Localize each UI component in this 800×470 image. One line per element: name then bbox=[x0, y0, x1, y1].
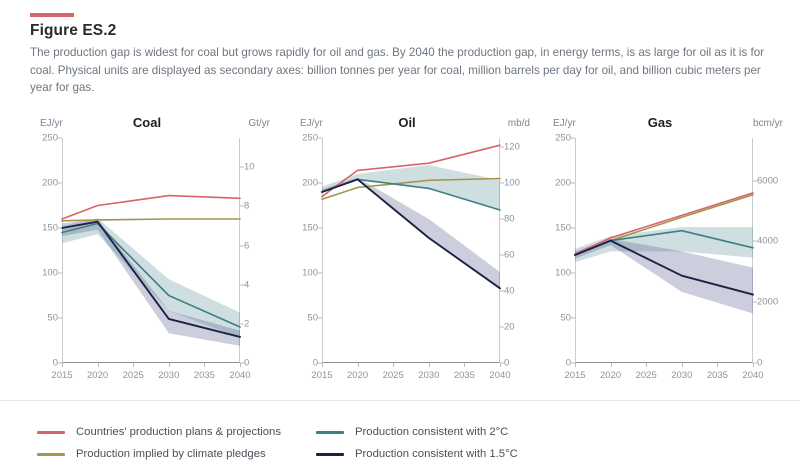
legend-label-pledges: Production implied by climate pledges bbox=[76, 448, 266, 460]
ytick-left-gas-200: 200 bbox=[541, 178, 571, 189]
chart-panel-coal: EJ/yr Coal Gt/yr 05010015020025002468102… bbox=[22, 118, 272, 398]
legend-swatch-plans bbox=[37, 431, 65, 434]
ytick-right-gas-2000: 2000 bbox=[757, 297, 795, 308]
xtick-mark bbox=[393, 363, 394, 367]
xtick-gas-2035: 2035 bbox=[707, 370, 728, 381]
xtick-gas-2025: 2025 bbox=[636, 370, 657, 381]
xtick-mark bbox=[133, 363, 134, 367]
series-svg-gas bbox=[575, 138, 753, 363]
chart-title-oil: Oil bbox=[282, 115, 532, 130]
chart-panel-oil: EJ/yr Oil mb/d 0501001502002500204060801… bbox=[282, 118, 532, 398]
ytick-mark-left bbox=[58, 228, 62, 229]
chart-title-coal: Coal bbox=[22, 115, 272, 130]
legend-divider bbox=[0, 400, 800, 401]
plot-svg-gas bbox=[575, 138, 753, 363]
accent-bar bbox=[30, 13, 74, 17]
ytick-left-coal-250: 250 bbox=[28, 133, 58, 144]
legend-label-15c: Production consistent with 1.5°C bbox=[355, 448, 518, 460]
ytick-left-oil-0: 0 bbox=[288, 358, 318, 369]
xtick-oil-2035: 2035 bbox=[454, 370, 475, 381]
series-svg-coal bbox=[62, 138, 240, 363]
xtick-coal-2040: 2040 bbox=[229, 370, 250, 381]
xtick-gas-2040: 2040 bbox=[742, 370, 763, 381]
ytick-mark-left bbox=[318, 273, 322, 274]
ytick-left-oil-50: 50 bbox=[288, 313, 318, 324]
xtick-mark bbox=[753, 363, 754, 367]
ytick-left-gas-50: 50 bbox=[541, 313, 571, 324]
ytick-right-coal-2: 2 bbox=[244, 318, 282, 329]
figure-caption: The production gap is widest for coal bu… bbox=[30, 44, 772, 97]
xtick-oil-2030: 2030 bbox=[418, 370, 439, 381]
xtick-coal-2035: 2035 bbox=[194, 370, 215, 381]
plot-svg-oil bbox=[322, 138, 500, 363]
xtick-mark bbox=[500, 363, 501, 367]
ytick-right-gas-6000: 6000 bbox=[757, 175, 795, 186]
plot-area-coal: 0501001502002500246810201520202025203020… bbox=[62, 138, 240, 363]
ytick-mark-right bbox=[240, 245, 244, 246]
chart-panel-gas: EJ/yr Gas bcm/yr 05010015020025002000400… bbox=[535, 118, 785, 398]
xtick-coal-2030: 2030 bbox=[158, 370, 179, 381]
xtick-mark bbox=[204, 363, 205, 367]
ytick-mark-right bbox=[240, 323, 244, 324]
xtick-mark bbox=[682, 363, 683, 367]
series-svg-oil bbox=[322, 138, 500, 363]
ytick-right-coal-8: 8 bbox=[244, 201, 282, 212]
ytick-mark-left bbox=[318, 318, 322, 319]
ytick-mark-left bbox=[58, 138, 62, 139]
ytick-left-oil-150: 150 bbox=[288, 223, 318, 234]
band-2c bbox=[322, 165, 500, 210]
xtick-mark bbox=[322, 363, 323, 367]
ytick-mark-left bbox=[58, 183, 62, 184]
ytick-left-coal-100: 100 bbox=[28, 268, 58, 279]
ytick-mark-left bbox=[58, 273, 62, 274]
xtick-mark bbox=[98, 363, 99, 367]
xtick-coal-2025: 2025 bbox=[123, 370, 144, 381]
ytick-mark-left bbox=[571, 318, 575, 319]
axis-unit-right-gas: bcm/yr bbox=[753, 118, 783, 129]
ytick-left-oil-100: 100 bbox=[288, 268, 318, 279]
ytick-left-gas-100: 100 bbox=[541, 268, 571, 279]
ytick-left-coal-200: 200 bbox=[28, 178, 58, 189]
legend-item-plans: Countries' production plans & projection… bbox=[37, 426, 281, 438]
xtick-coal-2020: 2020 bbox=[87, 370, 108, 381]
xtick-oil-2025: 2025 bbox=[383, 370, 404, 381]
ytick-left-coal-150: 150 bbox=[28, 223, 58, 234]
ytick-mark-right bbox=[753, 241, 757, 242]
legend-item-2c: Production consistent with 2°C bbox=[316, 426, 508, 438]
ytick-mark-left bbox=[571, 228, 575, 229]
legend-swatch-15c bbox=[316, 453, 344, 456]
ytick-mark-right bbox=[500, 183, 504, 184]
ytick-left-oil-250: 250 bbox=[288, 133, 318, 144]
ytick-mark-left bbox=[318, 183, 322, 184]
ytick-right-gas-0: 0 bbox=[757, 358, 795, 369]
ytick-mark-right bbox=[500, 255, 504, 256]
ytick-mark-left bbox=[318, 138, 322, 139]
ytick-mark-left bbox=[571, 138, 575, 139]
ytick-mark-right bbox=[500, 147, 504, 148]
ytick-mark-right bbox=[500, 291, 504, 292]
xtick-mark bbox=[240, 363, 241, 367]
plot-area-gas: 0501001502002500200040006000201520202025… bbox=[575, 138, 753, 363]
ytick-right-coal-6: 6 bbox=[244, 240, 282, 251]
ytick-mark-right bbox=[753, 302, 757, 303]
ytick-mark-right bbox=[240, 284, 244, 285]
legend-label-2c: Production consistent with 2°C bbox=[355, 426, 508, 438]
page-title: Figure ES.2 bbox=[30, 22, 116, 40]
xtick-mark bbox=[646, 363, 647, 367]
ytick-mark-right bbox=[240, 206, 244, 207]
legend-item-pledges: Production implied by climate pledges bbox=[37, 448, 266, 460]
legend-swatch-2c bbox=[316, 431, 344, 434]
ytick-left-oil-200: 200 bbox=[288, 178, 318, 189]
xtick-mark bbox=[611, 363, 612, 367]
ytick-mark-right bbox=[500, 219, 504, 220]
ytick-mark-left bbox=[571, 273, 575, 274]
ytick-right-coal-4: 4 bbox=[244, 279, 282, 290]
xtick-gas-2030: 2030 bbox=[671, 370, 692, 381]
series-line-1 bbox=[62, 219, 240, 221]
xtick-mark bbox=[62, 363, 63, 367]
ytick-left-coal-0: 0 bbox=[28, 358, 58, 369]
figure-page: Figure ES.2 The production gap is widest… bbox=[0, 0, 800, 470]
xtick-oil-2040: 2040 bbox=[489, 370, 510, 381]
legend-item-15c: Production consistent with 1.5°C bbox=[316, 448, 518, 460]
ytick-left-gas-150: 150 bbox=[541, 223, 571, 234]
xtick-mark bbox=[464, 363, 465, 367]
ytick-right-coal-0: 0 bbox=[244, 358, 282, 369]
ytick-mark-right bbox=[753, 180, 757, 181]
ytick-left-gas-250: 250 bbox=[541, 133, 571, 144]
xtick-mark bbox=[717, 363, 718, 367]
ytick-left-gas-0: 0 bbox=[541, 358, 571, 369]
chart-legend: Countries' production plans & projection… bbox=[0, 408, 800, 464]
xtick-oil-2020: 2020 bbox=[347, 370, 368, 381]
axis-unit-right-oil: mb/d bbox=[508, 118, 530, 129]
ytick-mark-right bbox=[500, 327, 504, 328]
xtick-mark bbox=[169, 363, 170, 367]
xtick-gas-2015: 2015 bbox=[564, 370, 585, 381]
xtick-mark bbox=[429, 363, 430, 367]
xtick-mark bbox=[358, 363, 359, 367]
xtick-mark bbox=[575, 363, 576, 367]
ytick-mark-left bbox=[318, 228, 322, 229]
legend-swatch-pledges bbox=[37, 453, 65, 456]
ytick-right-coal-10: 10 bbox=[244, 162, 282, 173]
chart-title-gas: Gas bbox=[535, 115, 785, 130]
xtick-coal-2015: 2015 bbox=[51, 370, 72, 381]
legend-label-plans: Countries' production plans & projection… bbox=[76, 426, 281, 438]
ytick-mark-left bbox=[58, 318, 62, 319]
ytick-mark-right bbox=[240, 167, 244, 168]
ytick-right-gas-4000: 4000 bbox=[757, 236, 795, 247]
ytick-left-coal-50: 50 bbox=[28, 313, 58, 324]
xtick-gas-2020: 2020 bbox=[600, 370, 621, 381]
plot-svg-coal bbox=[62, 138, 240, 363]
xtick-oil-2015: 2015 bbox=[311, 370, 332, 381]
chart-panels: EJ/yr Coal Gt/yr 05010015020025002468102… bbox=[0, 118, 800, 398]
axis-unit-right-coal: Gt/yr bbox=[248, 118, 270, 129]
series-line-0 bbox=[62, 196, 240, 219]
plot-area-oil: 0501001502002500204060801001202015202020… bbox=[322, 138, 500, 363]
ytick-mark-left bbox=[571, 183, 575, 184]
